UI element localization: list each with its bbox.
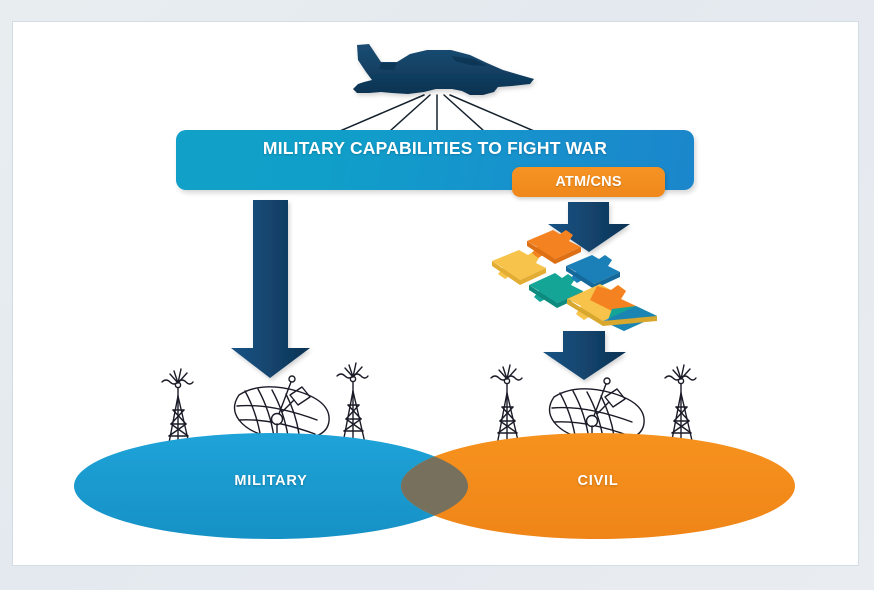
satellite-dish-icon [235,376,330,447]
atm-cns-label: ATM/CNS [512,167,665,197]
banner-title: MILITARY CAPABILITIES TO FIGHT WAR [176,138,694,159]
atm-cns-badge[interactable]: ATM/CNS [512,167,665,197]
down-arrow-icon [548,202,630,252]
fighter-jet-icon [353,44,534,95]
antenna-tower-icon [162,369,193,448]
satellite-dish-icon [550,378,645,449]
antenna-tower-icon [491,365,522,445]
diagram-stage: MILITARY CAPABILITIES TO FIGHT WAR ATM/C… [0,0,874,590]
puzzle-pieces-icon [492,230,657,331]
antenna-tower-icon [337,363,368,443]
jet-connector-lines [340,95,534,131]
diagram-artwork [0,0,874,590]
military-domain-label: MILITARY [196,473,346,489]
down-arrow-icon [231,200,310,378]
down-arrow-icon [543,331,626,380]
civil-domain-label: CIVIL [523,473,673,489]
venn-diagram [74,433,795,539]
antenna-tower-icon [665,365,696,445]
diagram-canvas: MILITARY CAPABILITIES TO FIGHT WAR ATM/C… [0,0,874,590]
